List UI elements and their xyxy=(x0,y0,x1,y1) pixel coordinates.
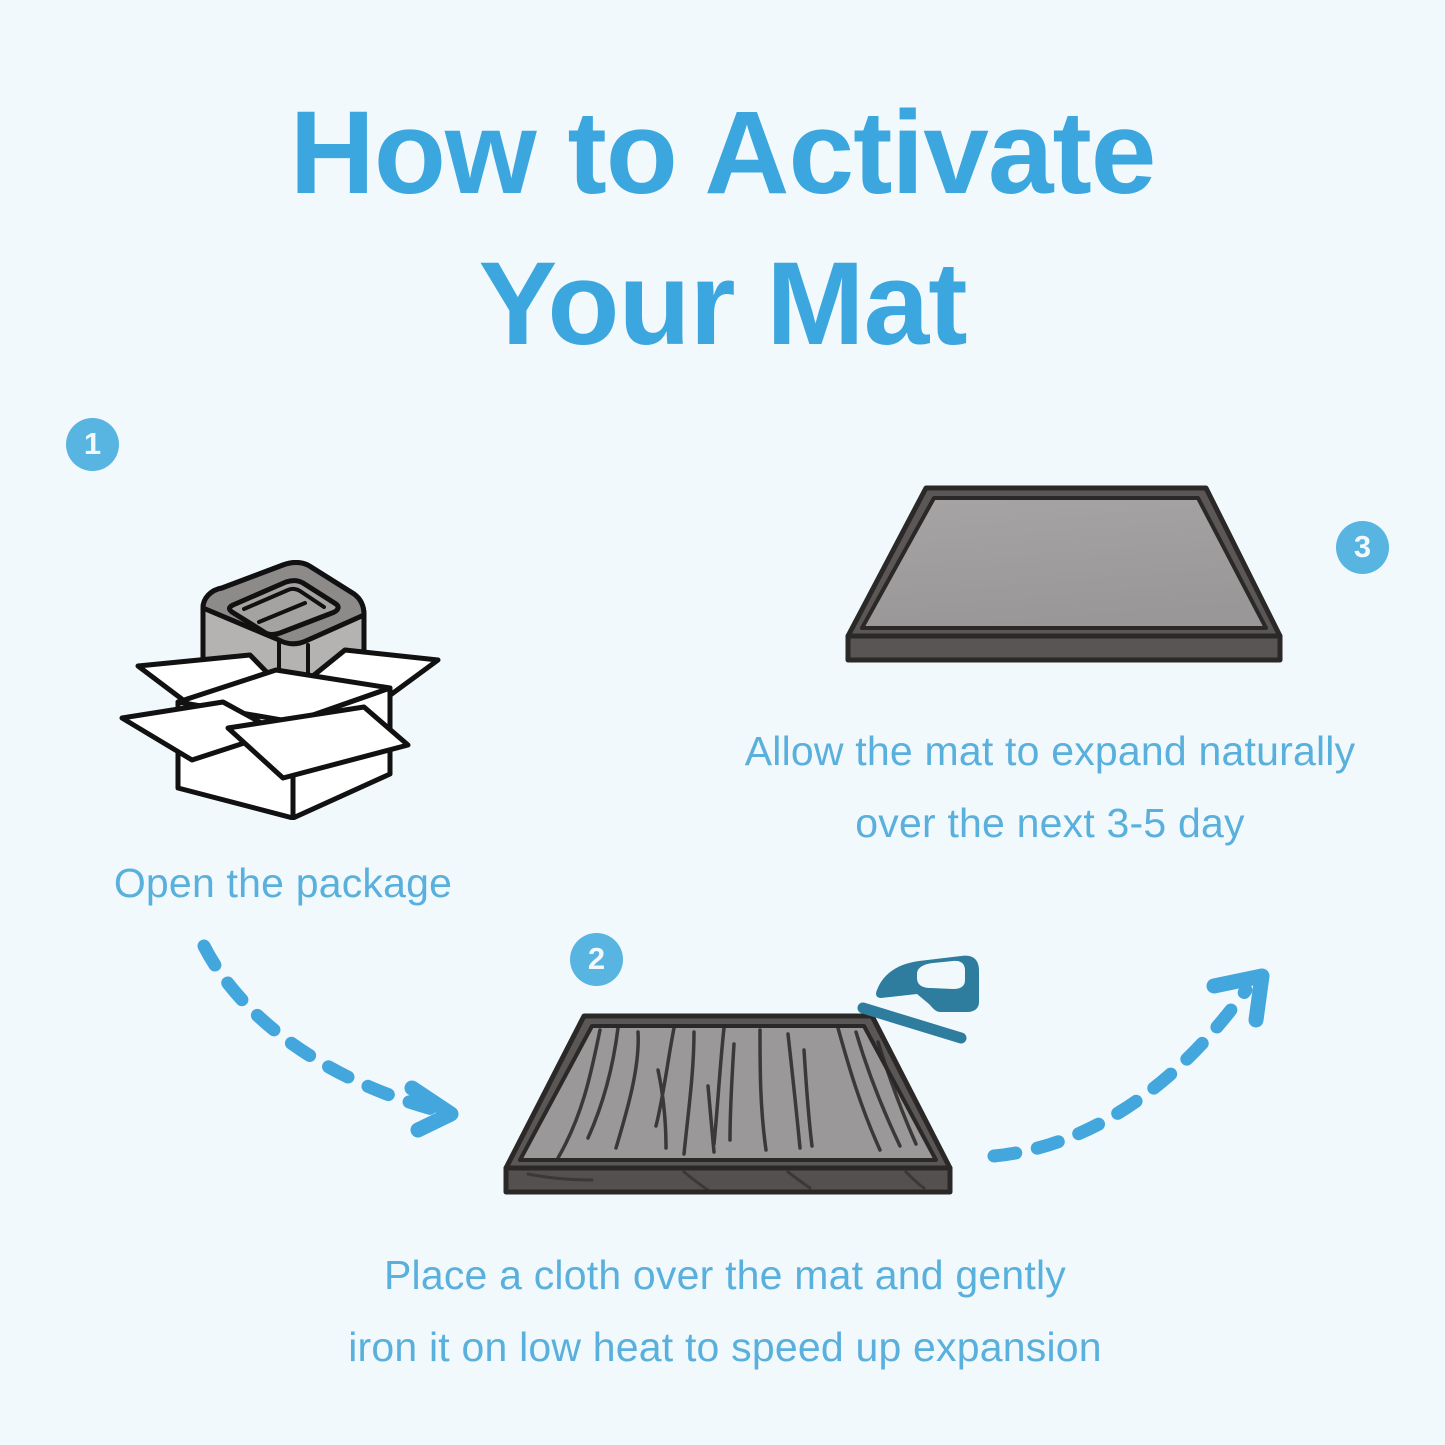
step-badge-2: 2 xyxy=(570,933,623,986)
step-3-caption: Allow the mat to expand naturally over t… xyxy=(655,716,1445,860)
foam-mat-icon xyxy=(828,468,1298,693)
step-badge-2-number: 2 xyxy=(588,943,605,974)
arrow-step1-to-step2-icon xyxy=(168,918,498,1143)
arrow-step2-to-step3-icon xyxy=(978,958,1288,1188)
step-badge-3: 3 xyxy=(1336,521,1389,574)
step-2-caption-line-1: Place a cloth over the mat and gently xyxy=(384,1252,1066,1298)
open-box-icon xyxy=(108,470,448,820)
step-badge-3-number: 3 xyxy=(1354,531,1371,562)
step-badge-1-number: 1 xyxy=(84,428,101,459)
page-title-line-1: How to Activate xyxy=(0,78,1445,229)
infographic-canvas: How to Activate Your Mat 1 xyxy=(0,0,1445,1445)
page-title-line-2: Your Mat xyxy=(0,229,1445,380)
step-badge-1: 1 xyxy=(66,418,119,471)
step-2-caption-line-2: iron it on low heat to speed up expansio… xyxy=(348,1324,1102,1370)
step-1-caption: Open the package xyxy=(40,848,526,920)
step-3-caption-line-1: Allow the mat to expand naturally xyxy=(745,728,1356,774)
page-title: How to Activate Your Mat xyxy=(0,78,1445,380)
step-3-caption-line-2: over the next 3-5 day xyxy=(855,800,1244,846)
step-2-caption: Place a cloth over the mat and gently ir… xyxy=(250,1240,1200,1384)
